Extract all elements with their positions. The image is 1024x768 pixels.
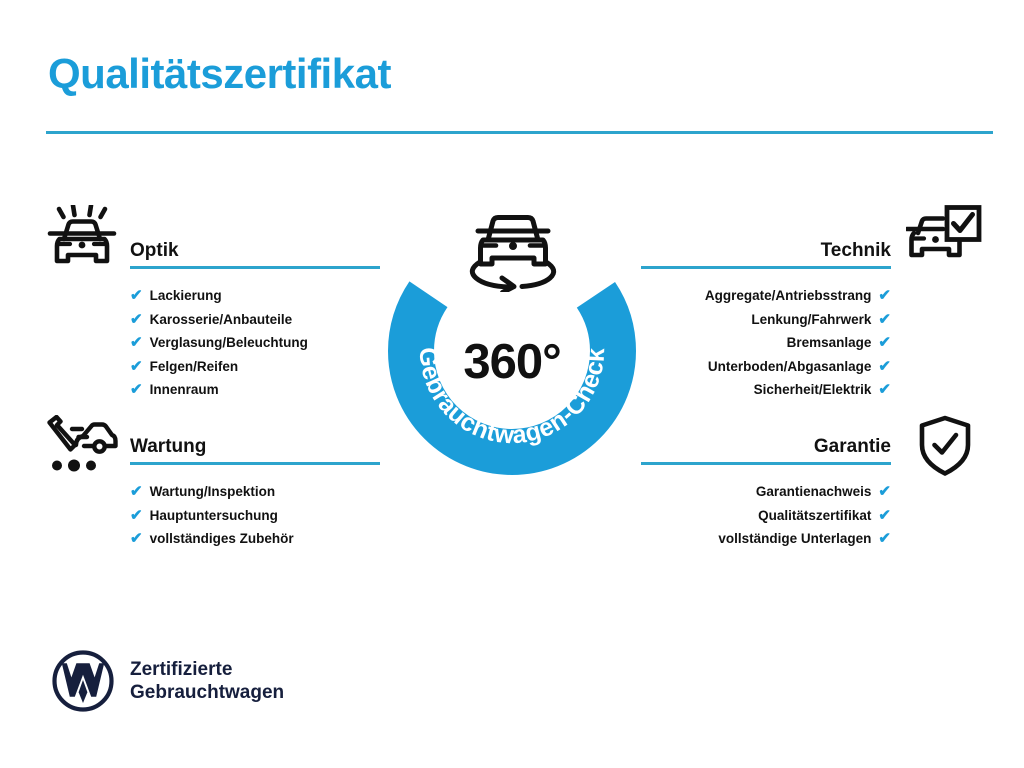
list-item: ✔Felgen/Reifen bbox=[130, 355, 380, 379]
check-icon: ✔ bbox=[130, 382, 143, 397]
list-item-label: Lackierung bbox=[150, 284, 222, 308]
check-icon: ✔ bbox=[878, 288, 891, 303]
check-icon: ✔ bbox=[130, 312, 143, 327]
vw-logo-icon bbox=[52, 650, 114, 712]
list-item: ✔Verglasung/Beleuchtung bbox=[130, 331, 380, 355]
check-icon: ✔ bbox=[878, 484, 891, 499]
section-garantie-list: Garantienachweis✔ Qualitätszertifikat✔ v… bbox=[641, 480, 891, 551]
check-icon: ✔ bbox=[878, 531, 891, 546]
section-garantie-header: Garantie bbox=[641, 434, 891, 468]
badge-center-label: 360° bbox=[372, 334, 652, 390]
check-icon: ✔ bbox=[878, 359, 891, 374]
check-icon: ✔ bbox=[878, 312, 891, 327]
section-wartung: Wartung ✔Wartung/Inspektion ✔Hauptunters… bbox=[130, 434, 380, 551]
check-icon: ✔ bbox=[130, 288, 143, 303]
footer-logo-text: Zertifizierte Gebrauchtwagen bbox=[130, 658, 284, 704]
list-item-label: Lenkung/Fahrwerk bbox=[751, 308, 871, 332]
list-item-label: Karosserie/Anbauteile bbox=[150, 308, 293, 332]
list-item-label: Garantienachweis bbox=[756, 480, 872, 504]
section-optik-title: Optik bbox=[130, 238, 380, 264]
check-icon: ✔ bbox=[130, 531, 143, 546]
car-checkbox-icon bbox=[906, 205, 982, 272]
list-item-label: Verglasung/Beleuchtung bbox=[150, 331, 308, 355]
check-icon: ✔ bbox=[130, 335, 143, 350]
car-service-wrench-icon bbox=[46, 415, 120, 480]
car-rotate-icon bbox=[464, 200, 562, 292]
footer-logo: Zertifizierte Gebrauchtwagen bbox=[52, 650, 284, 712]
section-wartung-list: ✔Wartung/Inspektion ✔Hauptuntersuchung ✔… bbox=[130, 480, 380, 551]
section-wartung-header: Wartung bbox=[130, 434, 380, 468]
list-item-label: Qualitätszertifikat bbox=[758, 504, 871, 528]
section-wartung-divider bbox=[130, 462, 380, 465]
list-item: Qualitätszertifikat✔ bbox=[641, 504, 891, 528]
list-item-label: Sicherheit/Elektrik bbox=[754, 378, 872, 402]
list-item: Unterboden/Abgasanlage✔ bbox=[641, 355, 891, 379]
section-optik: Optik ✔Lackierung ✔Karosserie/Anbauteile… bbox=[130, 238, 380, 402]
section-wartung-title: Wartung bbox=[130, 434, 380, 460]
check-icon: ✔ bbox=[878, 335, 891, 350]
list-item: Garantienachweis✔ bbox=[641, 480, 891, 504]
list-item-label: Felgen/Reifen bbox=[150, 355, 239, 379]
list-item: Sicherheit/Elektrik✔ bbox=[641, 378, 891, 402]
list-item-label: vollständiges Zubehör bbox=[150, 527, 294, 551]
list-item-label: Unterboden/Abgasanlage bbox=[708, 355, 872, 379]
list-item-label: vollständige Unterlagen bbox=[718, 527, 871, 551]
check-icon: ✔ bbox=[130, 359, 143, 374]
title-divider bbox=[46, 131, 993, 134]
section-technik-divider bbox=[641, 266, 891, 269]
list-item: Lenkung/Fahrwerk✔ bbox=[641, 308, 891, 332]
section-technik-header: Technik bbox=[641, 238, 891, 272]
check-icon: ✔ bbox=[130, 508, 143, 523]
list-item: Aggregate/Antriebsstrang✔ bbox=[641, 284, 891, 308]
list-item: vollständige Unterlagen✔ bbox=[641, 527, 891, 551]
list-item: ✔Innenraum bbox=[130, 378, 380, 402]
footer-line-1: Zertifizierte bbox=[130, 658, 284, 681]
list-item-label: Innenraum bbox=[150, 378, 219, 402]
list-item: ✔vollständiges Zubehör bbox=[130, 527, 380, 551]
shield-check-icon bbox=[916, 415, 974, 482]
section-optik-list: ✔Lackierung ✔Karosserie/Anbauteile ✔Verg… bbox=[130, 284, 380, 402]
section-technik-list: Aggregate/Antriebsstrang✔ Lenkung/Fahrwe… bbox=[641, 284, 891, 402]
car-front-lights-icon bbox=[46, 205, 118, 278]
check-icon: ✔ bbox=[878, 508, 891, 523]
list-item: ✔Karosserie/Anbauteile bbox=[130, 308, 380, 332]
section-garantie: Garantie Garantienachweis✔ Qualitätszert… bbox=[641, 434, 891, 551]
list-item-label: Bremsanlage bbox=[787, 331, 872, 355]
section-garantie-divider bbox=[641, 462, 891, 465]
badge-360-gebrauchtwagen-check: Gebrauchtwagen-Check 360° bbox=[372, 196, 652, 486]
list-item: ✔Lackierung bbox=[130, 284, 380, 308]
check-icon: ✔ bbox=[130, 484, 143, 499]
section-technik: Technik Aggregate/Antriebsstrang✔ Lenkun… bbox=[641, 238, 891, 402]
list-item-label: Aggregate/Antriebsstrang bbox=[705, 284, 872, 308]
list-item: ✔Hauptuntersuchung bbox=[130, 504, 380, 528]
section-optik-divider bbox=[130, 266, 380, 269]
list-item: Bremsanlage✔ bbox=[641, 331, 891, 355]
section-garantie-title: Garantie bbox=[641, 434, 891, 460]
list-item: ✔Wartung/Inspektion bbox=[130, 480, 380, 504]
section-technik-title: Technik bbox=[641, 238, 891, 264]
page-title: Qualitätszertifikat bbox=[48, 50, 391, 98]
check-icon: ✔ bbox=[878, 382, 891, 397]
section-optik-header: Optik bbox=[130, 238, 380, 272]
certificate-page: Qualitätszertifikat bbox=[0, 0, 1024, 768]
list-item-label: Wartung/Inspektion bbox=[150, 480, 276, 504]
list-item-label: Hauptuntersuchung bbox=[150, 504, 278, 528]
footer-line-2: Gebrauchtwagen bbox=[130, 681, 284, 704]
